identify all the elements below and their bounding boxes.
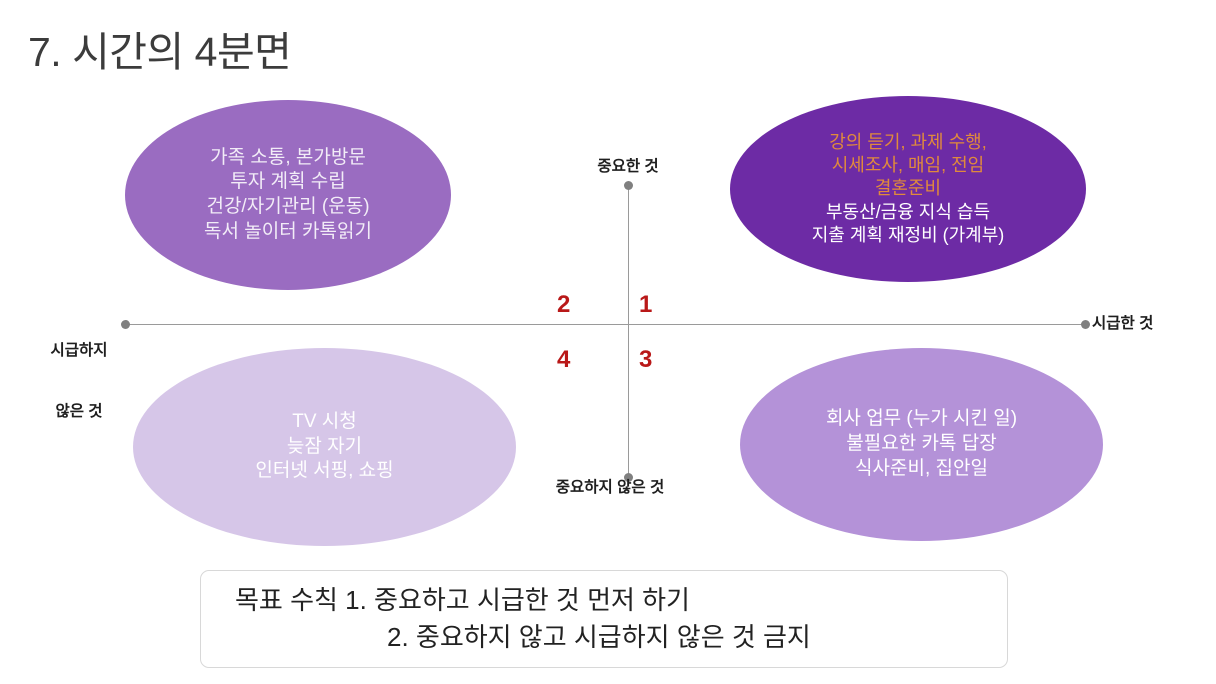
axis-label-not-important: 중요하지 않은 것 <box>556 478 664 498</box>
page-title: 7. 시간의 4분면 <box>28 18 291 78</box>
goal-rules-box: 목표 수칙 1. 중요하고 시급한 것 먼저 하기 2. 중요하지 않고 시급하… <box>200 570 1008 668</box>
quadrant-ellipse-important-urgent: 강의 듣기, 과제 수행, 시세조사, 매임, 전임 결혼준비 부동산/금융 지… <box>730 96 1086 282</box>
quadrant-q4-line-1: TV 시청 <box>292 410 357 435</box>
quadrant-number-1: 1 <box>639 291 652 319</box>
axis-label-important: 중요한 것 <box>597 157 658 177</box>
quadrant-q1-line-2: 지출 계획 재정비 (가계부) <box>812 224 1005 247</box>
quadrant-q2-line-1: 가족 소통, 본가방문 <box>210 146 366 171</box>
quadrant-q4-line-2: 늦잠 자기 <box>287 435 362 460</box>
quadrant-q2-line-2: 투자 계획 수립 <box>230 170 345 195</box>
quadrant-q1-accent-line-1: 강의 듣기, 과제 수행, <box>829 131 986 154</box>
axis-endpoint-dot-left <box>121 320 130 329</box>
importance-axis-line <box>628 185 629 477</box>
axis-endpoint-dot-right <box>1081 320 1090 329</box>
quadrant-q2-line-3: 건강/자기관리 (운동) <box>206 195 369 220</box>
slide-canvas: 7. 시간의 4분면 중요한 것 중요하지 않은 것 시급하지 않은 것 시급한… <box>0 0 1216 684</box>
quadrant-ellipse-not-important-urgent: 회사 업무 (누가 시킨 일) 불필요한 카톡 답장 식사준비, 집안일 <box>740 348 1103 541</box>
axis-label-not-urgent: 시급하지 않은 것 <box>38 300 120 464</box>
axis-label-not-urgent-line2: 않은 것 <box>38 402 120 422</box>
quadrant-q3-line-1: 회사 업무 (누가 시킨 일) <box>826 407 1017 432</box>
quadrant-ellipse-not-important-not-urgent: TV 시청 늦잠 자기 인터넷 서핑, 쇼핑 <box>133 348 516 546</box>
quadrant-q1-accent-line-3: 결혼준비 <box>875 177 941 200</box>
urgency-axis-line <box>126 324 1086 325</box>
quadrant-ellipse-important-not-urgent: 가족 소통, 본가방문 투자 계획 수립 건강/자기관리 (운동) 독서 놀이터… <box>125 100 451 290</box>
quadrant-q2-line-4: 독서 놀이터 카톡읽기 <box>204 220 372 245</box>
quadrant-q3-line-2: 불필요한 카톡 답장 <box>846 432 996 457</box>
goal-rule-2: 2. 중요하지 않고 시급하지 않은 것 금지 <box>235 619 989 656</box>
quadrant-q4-line-3: 인터넷 서핑, 쇼핑 <box>255 459 393 484</box>
quadrant-q3-line-3: 식사준비, 집안일 <box>855 457 988 482</box>
quadrant-q1-accent-line-2: 시세조사, 매임, 전임 <box>832 154 984 177</box>
quadrant-q1-line-1: 부동산/금융 지식 습득 <box>826 201 990 224</box>
axis-label-not-urgent-line1: 시급하지 <box>38 341 120 361</box>
goal-rule-1: 목표 수칙 1. 중요하고 시급한 것 먼저 하기 <box>235 582 989 619</box>
axis-endpoint-dot-top <box>624 181 633 190</box>
quadrant-number-2: 2 <box>557 291 570 319</box>
quadrant-number-4: 4 <box>557 346 570 374</box>
axis-label-urgent: 시급한 것 <box>1092 314 1153 334</box>
quadrant-number-3: 3 <box>639 346 652 374</box>
